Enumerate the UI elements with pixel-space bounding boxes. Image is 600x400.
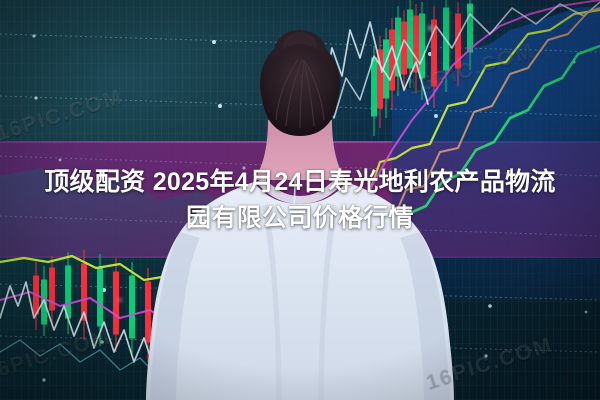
title-line-1: 顶级配资 2025年4月24日寿光地利农产品物流 [44, 164, 555, 200]
thumbnail-canvas: 顶级配资 2025年4月24日寿光地利农产品物流 园有限公司价格行情 16PIC… [0, 0, 600, 400]
person-hair [260, 30, 340, 136]
title-line-2: 园有限公司价格行情 [186, 200, 414, 236]
page-title: 顶级配资 2025年4月24日寿光地利农产品物流 园有限公司价格行情 [0, 141, 600, 258]
